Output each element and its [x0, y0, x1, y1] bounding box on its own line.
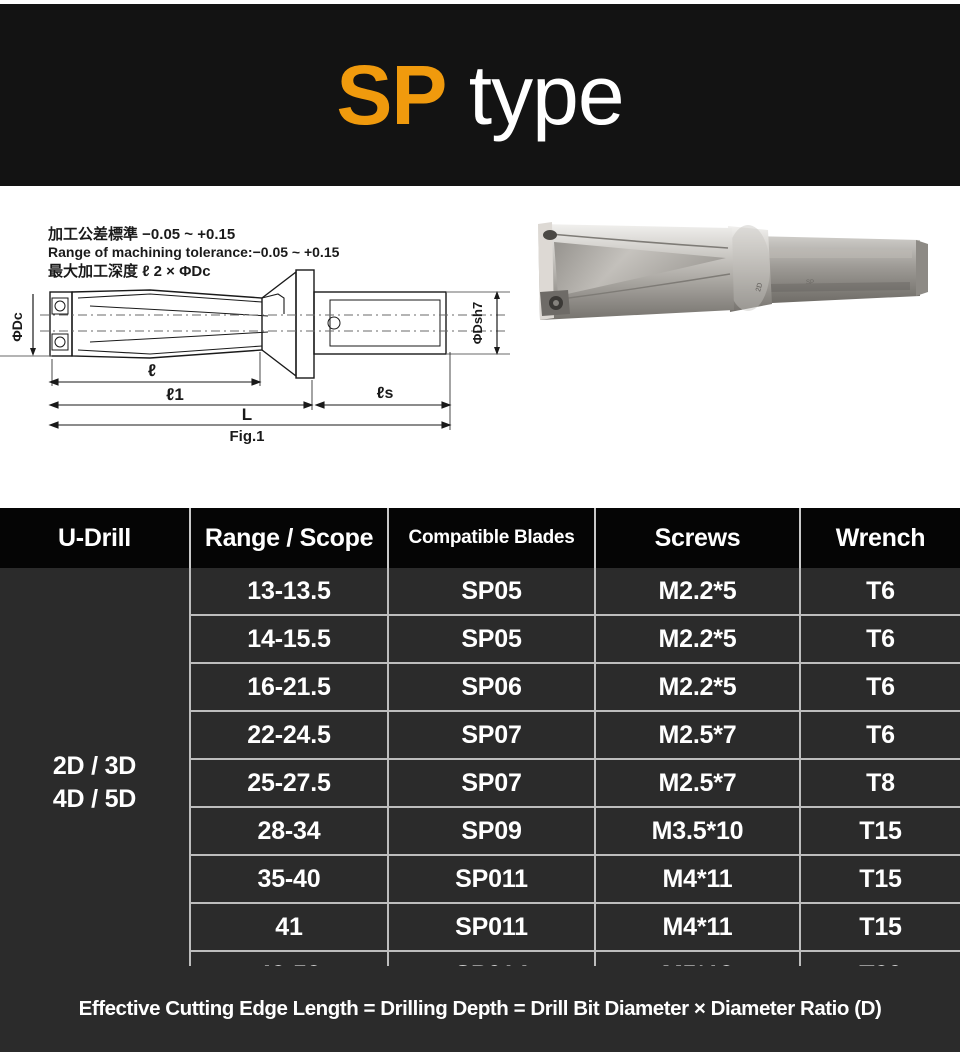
- cell-wrench: T15: [800, 807, 960, 855]
- cell-screw: M4*11: [595, 903, 800, 951]
- illustration-section: 加工公差標準 −0.05 ~ +0.15 Range of machining …: [0, 186, 960, 470]
- cell-range: 25-27.5: [190, 759, 388, 807]
- cell-screw: M2.5*7: [595, 759, 800, 807]
- cell-screw: M2.2*5: [595, 615, 800, 663]
- cell-screw: M2.5*7: [595, 711, 800, 759]
- dim-dsh7-label: ΦDsh7: [470, 302, 485, 344]
- cell-screw: M2.2*5: [595, 568, 800, 615]
- spec-table-container: U-Drill Range / Scope Compatible Blades …: [0, 508, 960, 966]
- page-banner: SP type: [0, 4, 960, 186]
- cell-blade: SP07: [388, 711, 595, 759]
- figure-label: Fig.1: [229, 428, 264, 444]
- cell-blade: SP011: [388, 903, 595, 951]
- product-photo-svg: 2D SP: [520, 200, 960, 340]
- page-title: SP type: [336, 53, 623, 137]
- cell-wrench: T6: [800, 615, 960, 663]
- table-header-row: U-Drill Range / Scope Compatible Blades …: [0, 508, 960, 568]
- tolerance-line-1: 加工公差標準 −0.05 ~ +0.15: [47, 225, 235, 243]
- dim-l-label: ℓ: [148, 361, 156, 380]
- cell-range: 28-34: [190, 807, 388, 855]
- nose-chamfer: [262, 294, 284, 314]
- spec-table-body: 2D / 3D 4D / 5D 13-13.5 SP05 M2.2*5 T6 1…: [0, 568, 960, 998]
- cell-blade: SP07: [388, 759, 595, 807]
- cell-screw: M4*11: [595, 855, 800, 903]
- drill-collar: [296, 270, 314, 378]
- dim-l1: ℓ1: [50, 380, 312, 410]
- flute-helix-b: [90, 332, 268, 342]
- cell-screw: M2.2*5: [595, 663, 800, 711]
- technical-drawing-svg: 加工公差標準 −0.05 ~ +0.15 Range of machining …: [0, 194, 520, 444]
- column-header-range: Range / Scope: [190, 508, 388, 568]
- tolerance-line-2: Range of machining tolerance:−0.05 ~ +0.…: [48, 244, 340, 260]
- footer-formula: Effective Cutting Edge Length = Drilling…: [79, 997, 882, 1021]
- cell-blade: SP05: [388, 568, 595, 615]
- cell-range: 14-15.5: [190, 615, 388, 663]
- technical-drawing: 加工公差標準 −0.05 ~ +0.15 Range of machining …: [0, 194, 520, 444]
- shank-inner: [330, 300, 440, 346]
- insert-pocket-top: [52, 298, 68, 314]
- column-header-wrench: Wrench: [800, 508, 960, 568]
- dim-l1-label: ℓ1: [166, 385, 184, 404]
- photo-insert-screw-torx: [553, 300, 559, 306]
- dim-dc: ΦDc: [9, 294, 36, 356]
- cell-range: 13-13.5: [190, 568, 388, 615]
- column-header-udrill: U-Drill: [0, 508, 190, 568]
- table-row: 2D / 3D 4D / 5D 13-13.5 SP05 M2.2*5 T6: [0, 568, 960, 615]
- photo-laser-marking: SP: [806, 280, 814, 286]
- footer-banner: Effective Cutting Edge Length = Drilling…: [0, 966, 960, 1052]
- spec-table: U-Drill Range / Scope Compatible Blades …: [0, 508, 960, 999]
- udrill-merged-cell: 2D / 3D 4D / 5D: [0, 568, 190, 998]
- cell-blade: SP09: [388, 807, 595, 855]
- dim-ls-label: ℓs: [377, 385, 394, 402]
- udrill-line-2: 4D / 5D: [53, 785, 136, 813]
- cell-range: 35-40: [190, 855, 388, 903]
- cell-blade: SP05: [388, 615, 595, 663]
- cell-range: 16-21.5: [190, 663, 388, 711]
- udrill-line-1: 2D / 3D: [53, 752, 136, 780]
- product-photo: 2D SP: [520, 200, 960, 340]
- insert-screw-bottom: [55, 337, 65, 347]
- cell-blade: SP011: [388, 855, 595, 903]
- drill-shank: [314, 292, 446, 354]
- cell-blade: SP06: [388, 663, 595, 711]
- tolerance-line-3: 最大加工深度 ℓ 2 × ΦDc: [48, 262, 211, 280]
- cell-wrench: T15: [800, 903, 960, 951]
- cell-wrench: T15: [800, 855, 960, 903]
- flute-line-bottom: [78, 346, 262, 354]
- insert-screw-top: [55, 301, 65, 311]
- insert-pocket-bottom: [52, 334, 68, 350]
- dim-L-label: L: [242, 405, 252, 424]
- neck-taper: [262, 272, 296, 376]
- cell-range: 41: [190, 903, 388, 951]
- cell-wrench: T6: [800, 711, 960, 759]
- photo-shank-end: [916, 240, 928, 296]
- dim-dc-label: ΦDc: [9, 312, 25, 342]
- flute-line-top: [78, 294, 262, 302]
- cell-wrench: T6: [800, 568, 960, 615]
- cell-wrench: T8: [800, 759, 960, 807]
- photo-coolant-hole: [543, 230, 557, 240]
- page-title-accent: SP: [336, 48, 446, 142]
- dim-dsh7: ΦDsh7: [470, 291, 500, 355]
- page-title-rest: type: [446, 48, 623, 142]
- cell-range: 22-24.5: [190, 711, 388, 759]
- dim-ls: ℓs: [316, 385, 450, 408]
- column-header-screws: Screws: [595, 508, 800, 568]
- cell-screw: M3.5*10: [595, 807, 800, 855]
- cell-wrench: T6: [800, 663, 960, 711]
- photo-shank: [752, 236, 920, 304]
- column-header-blades: Compatible Blades: [388, 508, 595, 568]
